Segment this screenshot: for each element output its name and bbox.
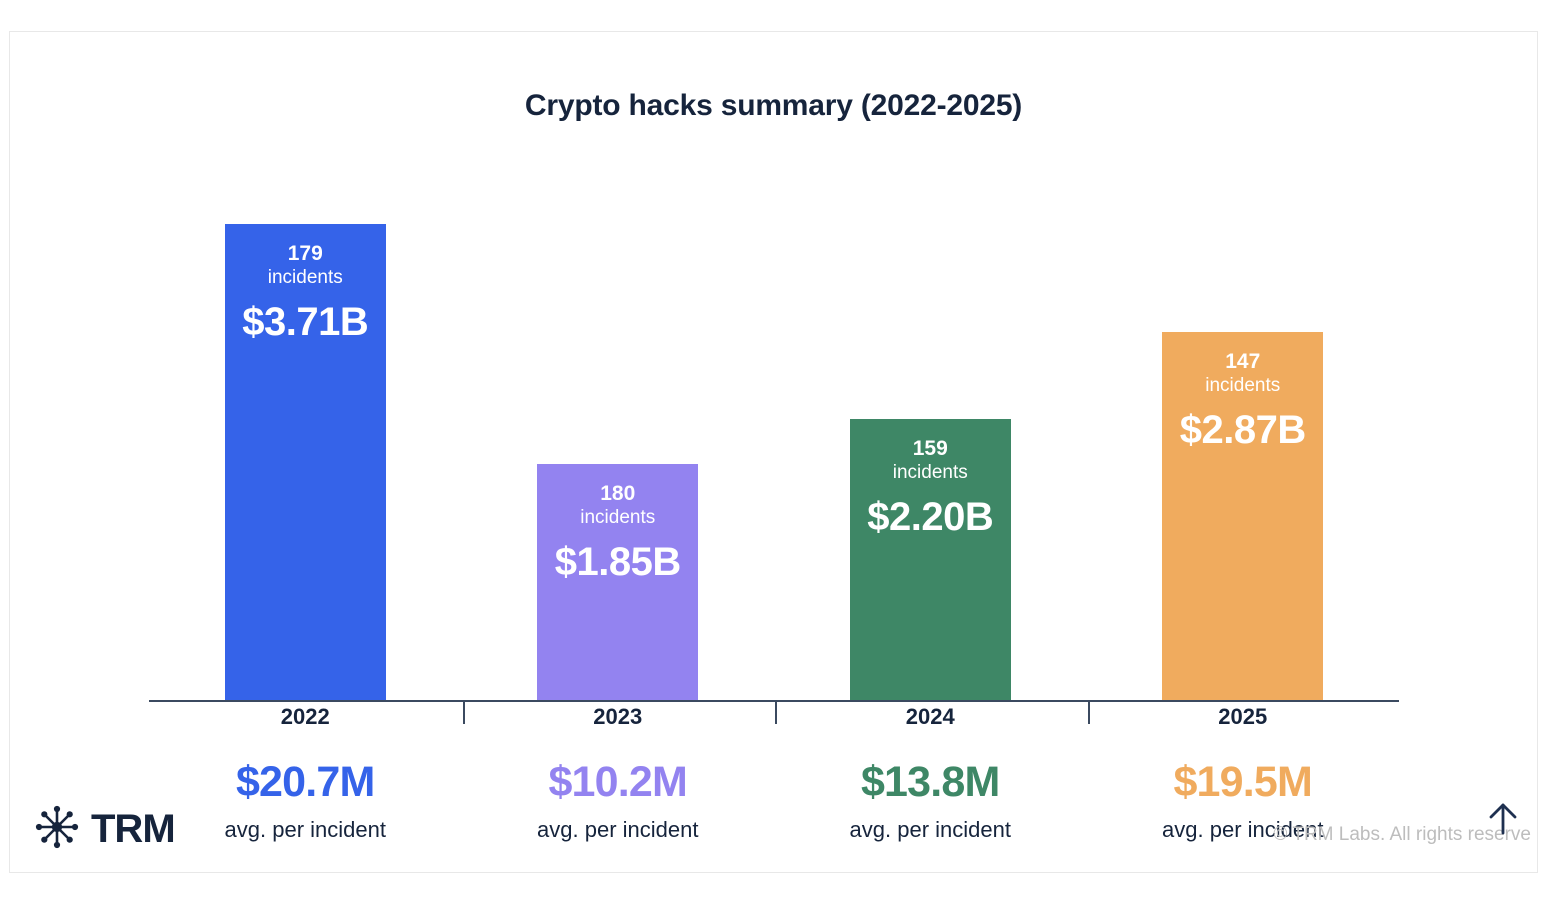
bar-incidents-count: 179 <box>288 242 323 266</box>
bar-amount-value: $1.85B <box>555 540 681 584</box>
bar-amount-value: $2.20B <box>867 495 993 539</box>
bar-slot: 147incidents$2.87B <box>1087 162 1400 702</box>
bar-incidents-label: incidents <box>1205 374 1280 398</box>
bar-2022[interactable]: 179incidents$3.71B <box>225 224 386 702</box>
trm-starburst-icon <box>33 803 81 856</box>
bar-amount-value: $3.71B <box>242 300 368 344</box>
bar-2023[interactable]: 180incidents$1.85B <box>537 464 698 702</box>
chart-plot-area: 179incidents$3.71B180incidents$1.85B159i… <box>149 162 1399 702</box>
page-title: Crypto hacks summary (2022-2025) <box>10 89 1537 123</box>
x-axis-year-label: 2022 <box>149 704 462 730</box>
scroll-to-top-button[interactable] <box>1482 798 1524 840</box>
bar-slot: 179incidents$3.71B <box>149 162 462 702</box>
bar-incidents-label: incidents <box>268 266 343 290</box>
bar-series: 179incidents$3.71B180incidents$1.85B159i… <box>149 162 1399 702</box>
x-axis-year-label: 2023 <box>462 704 775 730</box>
bar-incidents-label: incidents <box>893 461 968 485</box>
bar-slot: 180incidents$1.85B <box>462 162 775 702</box>
bar-amount-value: $2.87B <box>1180 408 1306 452</box>
brand-name: TRM <box>91 807 175 852</box>
footer: TRM © TRM Labs. All rights reserve <box>10 762 1537 872</box>
arrow-up-icon <box>1482 798 1524 840</box>
chart-card: Crypto hacks summary (2022-2025) 179inci… <box>9 31 1538 873</box>
brand-logo: TRM <box>33 803 175 856</box>
x-axis-line <box>149 700 1399 702</box>
bar-incidents-count: 180 <box>600 482 635 506</box>
x-axis-year-label: 2025 <box>1087 704 1400 730</box>
bar-2025[interactable]: 147incidents$2.87B <box>1162 332 1323 702</box>
bar-incidents-count: 147 <box>1225 350 1260 374</box>
x-axis-year-label: 2024 <box>774 704 1087 730</box>
bar-incidents-label: incidents <box>580 506 655 530</box>
bar-slot: 159incidents$2.20B <box>774 162 1087 702</box>
bar-incidents-count: 159 <box>913 437 948 461</box>
bar-2024[interactable]: 159incidents$2.20B <box>850 419 1011 702</box>
